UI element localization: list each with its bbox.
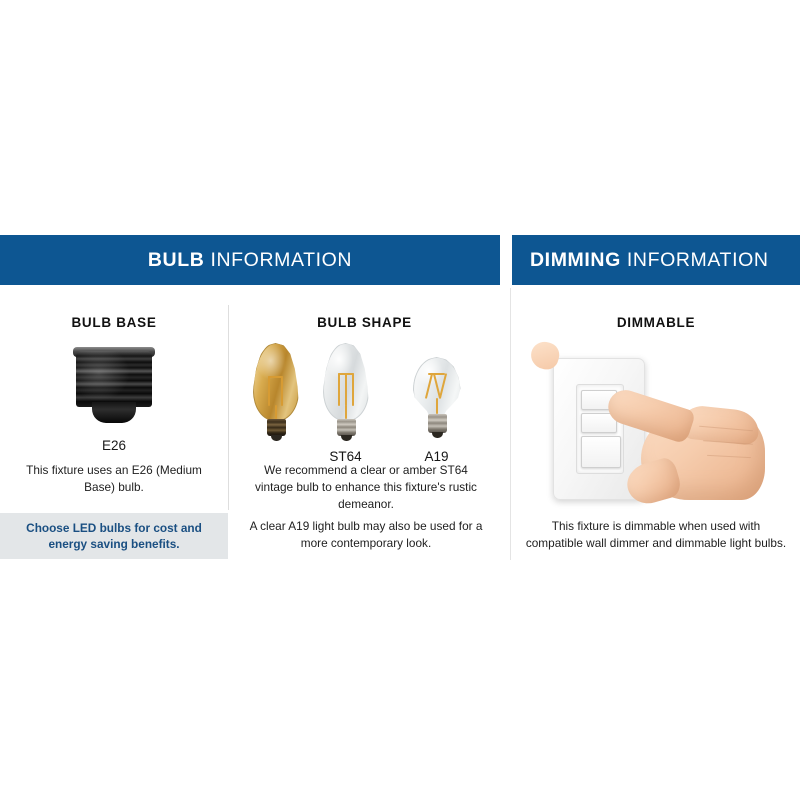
st64-amber-tip xyxy=(271,435,282,441)
dimming-information-title: DIMMING INFORMATION xyxy=(530,249,769,272)
bulb-information-header: BULB INFORMATION xyxy=(0,235,500,285)
st64-clear-cap xyxy=(337,419,356,436)
st64-clear-filament-cross xyxy=(338,373,354,375)
socket-threads xyxy=(76,351,152,407)
st64-amber-filament-right xyxy=(281,376,283,406)
bulb-header-strong: BULB xyxy=(148,249,205,271)
st64-clear-filament-right xyxy=(352,373,354,406)
dimming-description: This fixture is dimmable when used with … xyxy=(524,518,788,552)
bulb-shape-illustrations: ST64 A19 xyxy=(235,342,495,447)
dimmable-heading: DIMMABLE xyxy=(512,285,800,330)
dimming-header-strong: DIMMING xyxy=(530,249,621,271)
bulb-st64-clear xyxy=(323,343,369,443)
a19-filament-cross xyxy=(428,373,445,375)
a19-cap xyxy=(428,414,447,433)
bulb-shape-description-primary: We recommend a clear or amber ST64 vinta… xyxy=(246,462,486,513)
bulb-shape-column: BULB SHAPE xyxy=(229,285,500,447)
st64-clear-filament-stem xyxy=(345,405,347,419)
bulb-shape-heading: BULB SHAPE xyxy=(229,285,500,330)
bulb-header-light: INFORMATION xyxy=(210,249,352,271)
bulb-a19-clear xyxy=(413,357,461,443)
a19-tip xyxy=(432,432,443,438)
socket-tip xyxy=(92,402,136,423)
dimmable-column: DIMMABLE xyxy=(512,285,800,517)
e26-caption: E26 xyxy=(14,438,214,453)
bulb-dimming-infographic: BULB INFORMATION DIMMING INFORMATION BUL… xyxy=(0,0,800,800)
st64-amber-filament-cross xyxy=(268,376,283,378)
bulb-st64-amber xyxy=(253,343,299,443)
led-callout-text: Choose LED bulbs for cost and energy sav… xyxy=(0,520,228,553)
st64-amber-filament-left xyxy=(268,376,270,406)
bulb-base-column: BULB BASE xyxy=(0,285,228,425)
wall-dimmer-switch-icon xyxy=(531,342,781,517)
bulb-base-description: This fixture uses an E26 (Medium Base) b… xyxy=(14,462,214,496)
dimmer-rocker-bottom xyxy=(581,436,621,468)
st64-clear-filament-mid xyxy=(345,373,347,406)
led-callout-box: Choose LED bulbs for cost and energy sav… xyxy=(0,513,228,559)
panel-divider xyxy=(510,288,511,560)
dimming-information-header: DIMMING INFORMATION xyxy=(512,235,800,285)
a19-filament-stem xyxy=(436,398,438,414)
st64-amber-filament-stem xyxy=(275,405,277,419)
st64-clear-tip xyxy=(341,435,352,441)
dimming-header-light: INFORMATION xyxy=(627,249,769,271)
bulb-base-heading: BULB BASE xyxy=(0,285,228,330)
bulb-information-title: BULB INFORMATION xyxy=(148,249,352,272)
bulb-shape-description-secondary: A clear A19 light bulb may also be used … xyxy=(246,518,486,552)
e26-socket-icon xyxy=(59,347,169,425)
st64-amber-cap xyxy=(267,419,286,436)
st64-clear-filament-left xyxy=(338,373,340,406)
